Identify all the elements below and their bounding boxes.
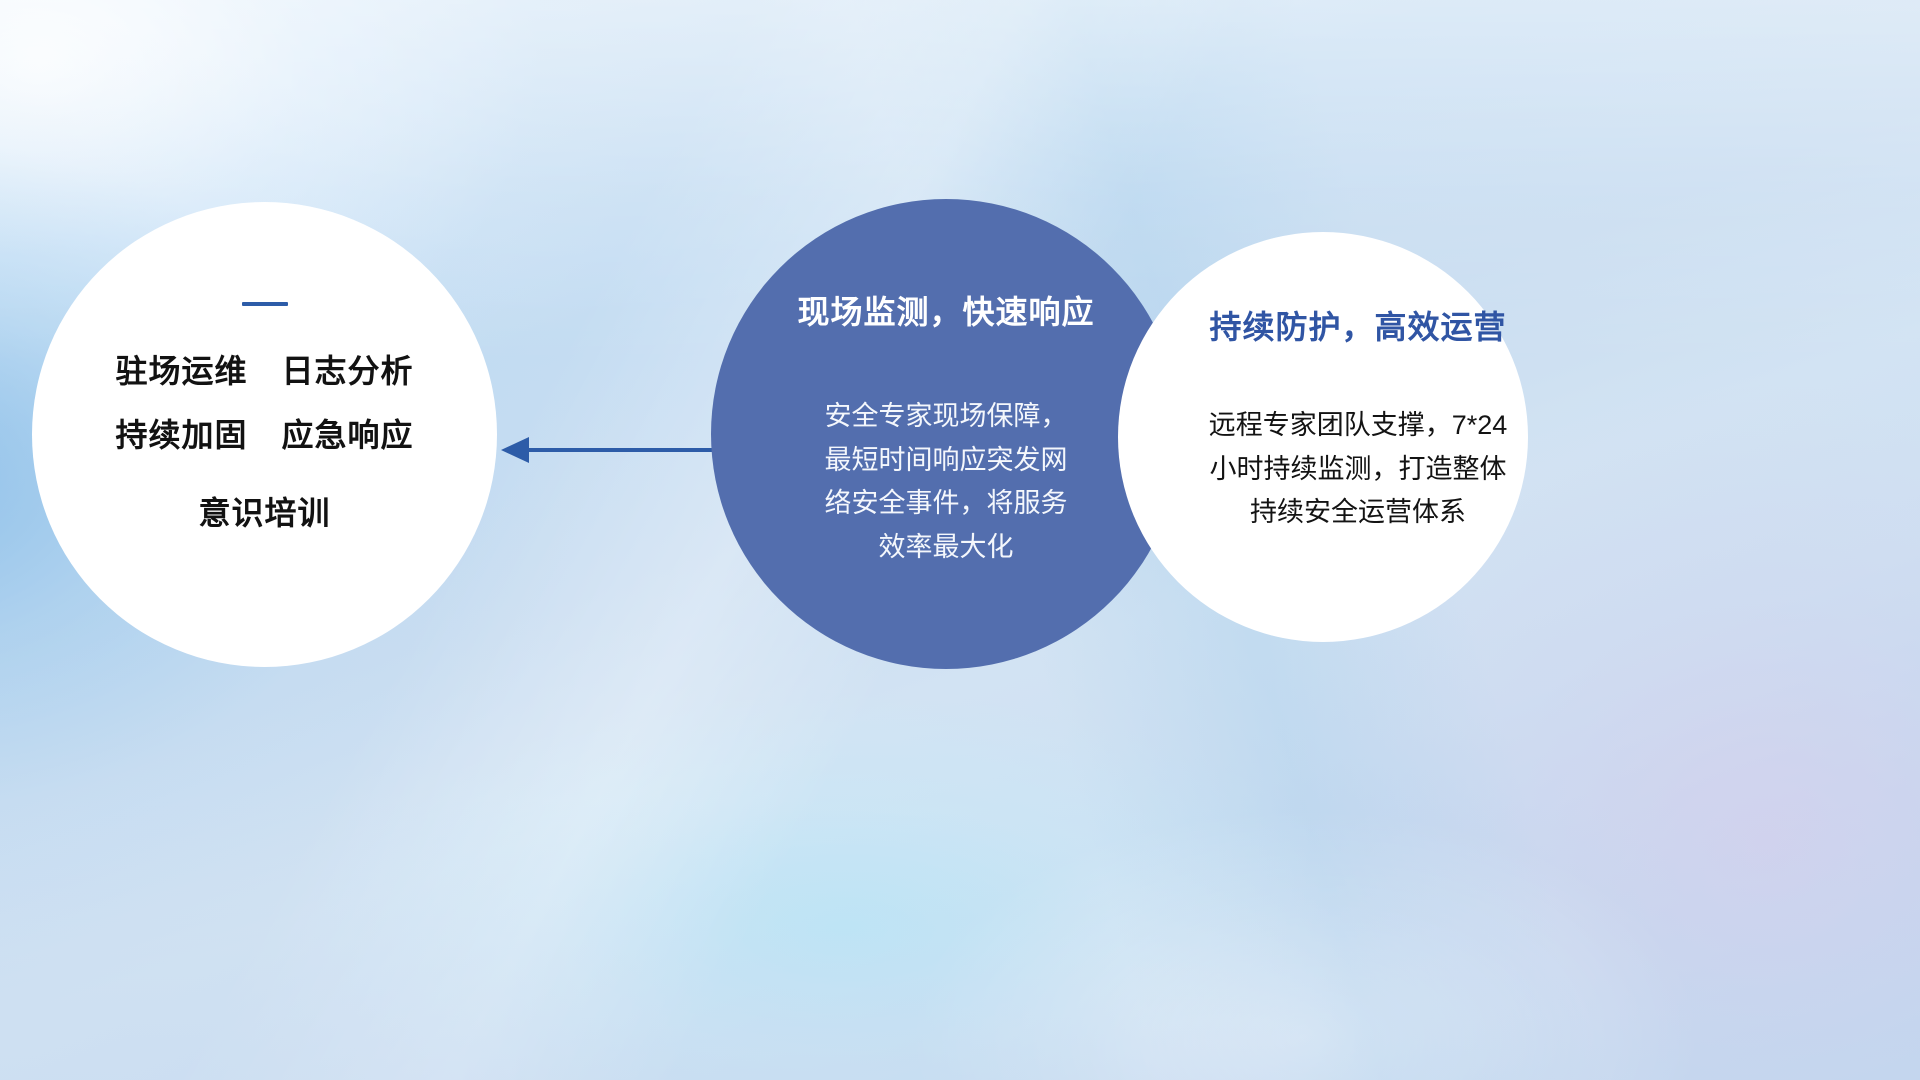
right-circle-title: 持续防护，高效运营 — [1209, 302, 1506, 348]
capability-tag: 意识培训 — [198, 488, 330, 534]
capability-circle-middle[interactable]: 现场监测，快速响应 安全专家现场保障， 最短时间响应突发网 络安全事件，将服务 … — [711, 199, 1181, 669]
middle-circle-description: 安全专家现场保障， 最短时间响应突发网 络安全事件，将服务 效率最大化 — [796, 395, 1096, 570]
slide-canvas: 驻场运维 日志分析 持续加固 应急响应 意识培训 现场监测，快速响应 安全专家现… — [0, 0, 1920, 1080]
description-line: 最短时间响应突发网 — [796, 439, 1096, 483]
middle-circle-title: 现场监测，快速响应 — [797, 287, 1094, 333]
description-line: 络安全事件，将服务 — [796, 482, 1096, 526]
description-line: 持续安全运营体系 — [1168, 491, 1548, 535]
capability-circle-right[interactable]: 持续防护，高效运营 远程专家团队支撑，7*24 小时持续监测，打造整体 持续安全… — [1118, 232, 1528, 642]
capability-circle-left[interactable]: 驻场运维 日志分析 持续加固 应急响应 意识培训 — [32, 202, 497, 667]
right-circle-content: 持续防护，高效运营 远程专家团队支撑，7*24 小时持续监测，打造整体 持续安全… — [1118, 302, 1598, 535]
capability-tag-row: 持续加固 应急响应 — [115, 410, 413, 456]
capability-tag-row: 意识培训 — [198, 488, 330, 534]
divider-dash-icon — [242, 302, 288, 306]
description-line: 安全专家现场保障， — [796, 395, 1096, 439]
right-circle-description: 远程专家团队支撑，7*24 小时持续监测，打造整体 持续安全运营体系 — [1168, 404, 1548, 535]
capability-tag-list: 驻场运维 日志分析 持续加固 应急响应 意识培训 — [115, 346, 413, 534]
description-line: 远程专家团队支撑，7*24 — [1168, 404, 1548, 448]
capability-tag: 日志分析 — [282, 346, 414, 392]
capability-tag: 应急响应 — [282, 410, 414, 456]
capability-tag-row: 驻场运维 日志分析 — [115, 346, 413, 392]
capability-tag: 驻场运维 — [115, 346, 247, 392]
description-line: 小时持续监测，打造整体 — [1168, 448, 1548, 492]
capability-tag: 持续加固 — [115, 410, 247, 456]
description-line: 效率最大化 — [796, 526, 1096, 570]
